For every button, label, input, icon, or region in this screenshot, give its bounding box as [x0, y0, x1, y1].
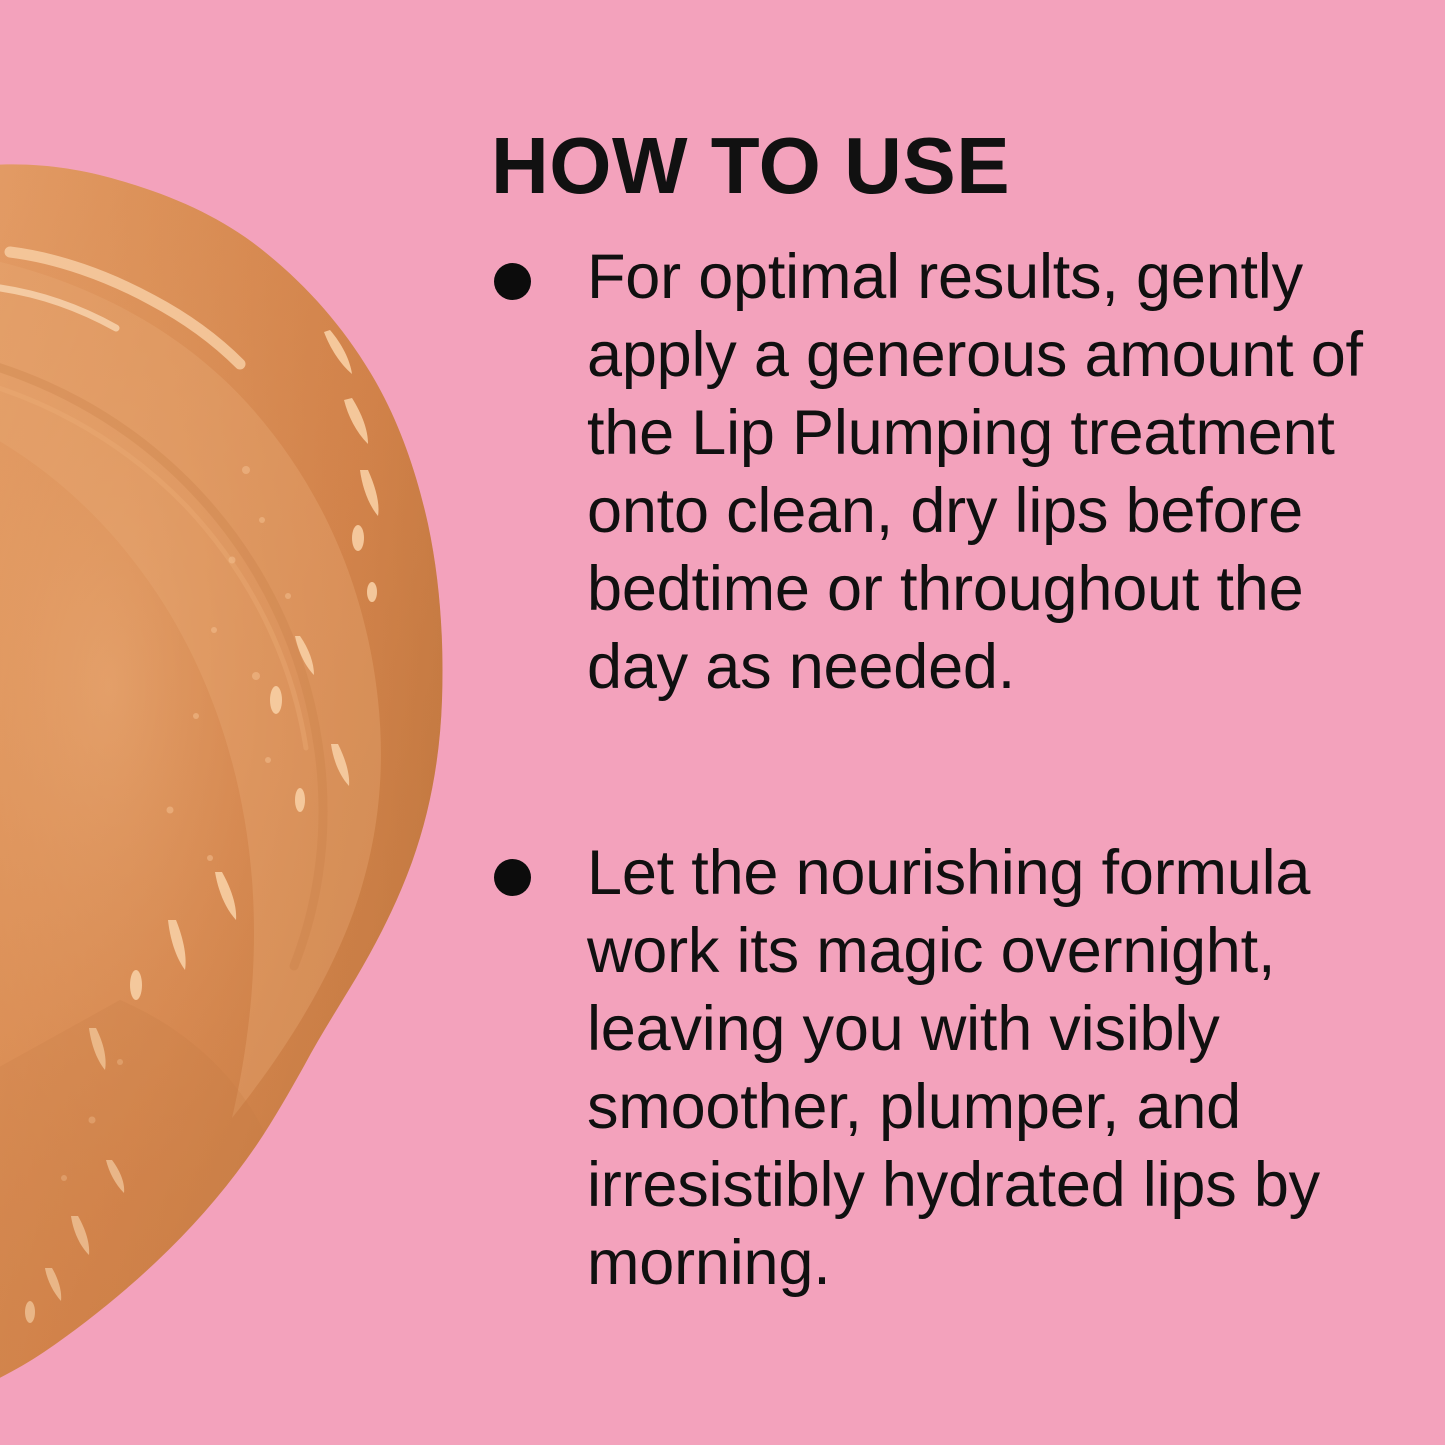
cream-swatch-artwork [0, 0, 520, 1445]
gloss-highlights [25, 330, 379, 1323]
page-title: HOW TO USE [491, 126, 1010, 206]
swatch-body [0, 140, 520, 1440]
list-item: For optimal results, gently apply a gene… [487, 238, 1367, 706]
content-column: HOW TO USE For optimal results, gently a… [487, 0, 1367, 1445]
list-item: Let the nourishing formula work its magi… [487, 834, 1367, 1302]
how-to-use-list: For optimal results, gently apply a gene… [487, 238, 1367, 1302]
bullet-dot-icon [494, 263, 531, 300]
bullet-dot-icon [494, 859, 531, 896]
how-to-use-product-card: HOW TO USE For optimal results, gently a… [0, 0, 1445, 1445]
swatch-speckles [61, 466, 291, 1181]
list-item-text: Let the nourishing formula work its magi… [587, 834, 1367, 1302]
list-item-text: For optimal results, gently apply a gene… [587, 238, 1367, 706]
cream-swatch-svg [0, 0, 520, 1445]
